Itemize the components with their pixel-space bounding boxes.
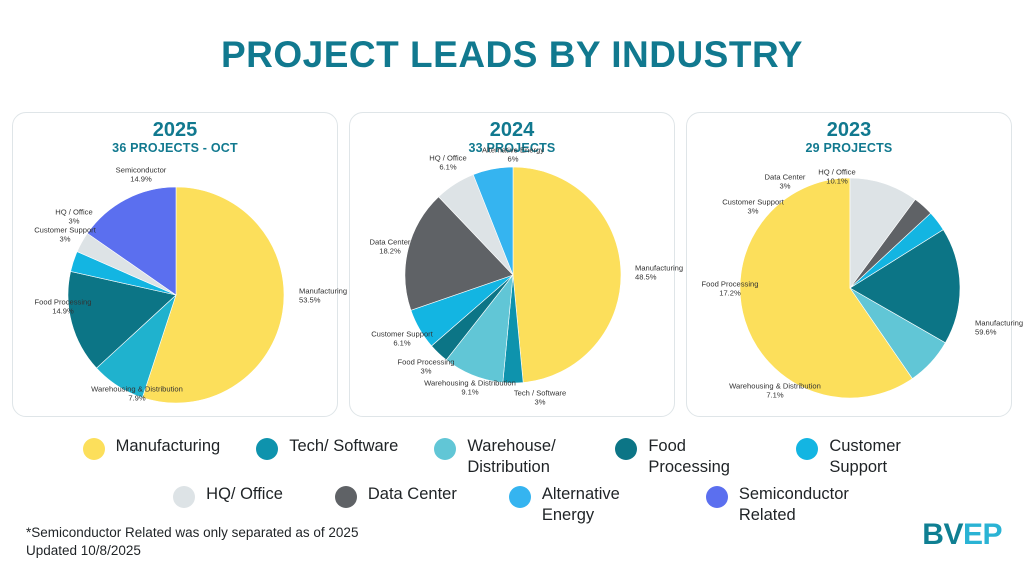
panels-container: 202536 PROJECTS - OCTManufacturing53.5%W… — [12, 112, 1012, 417]
slice-label-name: Customer Support — [722, 198, 784, 207]
slice-label: Semiconductor14.9% — [116, 166, 167, 185]
slice-label-percent: 6.1% — [429, 163, 466, 172]
legend-label: Semiconductor Related — [739, 484, 851, 526]
legend-swatch-icon — [256, 438, 278, 460]
legend-swatch-icon — [796, 438, 818, 460]
chart-panel-2024: 202433 PROJECTSManufacturing48.5%Tech / … — [349, 112, 675, 417]
slice-label: Manufacturing59.6% — [975, 319, 1023, 338]
slice-label: Warehousing & Distribution7.9% — [91, 385, 183, 404]
slice-label-percent: 9.1% — [424, 388, 516, 397]
slice-label-percent: 7.1% — [729, 391, 821, 400]
slice-label-percent: 3% — [398, 367, 455, 376]
legend-swatch-icon — [335, 486, 357, 508]
slice-label-percent: 3% — [765, 182, 806, 191]
legend-item[interactable]: Food Processing — [615, 436, 760, 478]
slice-label-name: Food Processing — [702, 280, 759, 289]
pie-slice — [513, 167, 621, 383]
legend-item[interactable]: Manufacturing — [83, 436, 221, 460]
slice-label-percent: 53.5% — [299, 296, 347, 305]
slice-label-percent: 14.9% — [35, 307, 92, 316]
slice-label-name: HQ / Office — [429, 154, 466, 163]
legend-item[interactable]: HQ/ Office — [173, 484, 283, 508]
slice-label-name: Customer Support — [371, 330, 433, 339]
slice-label-name: Warehousing & Distribution — [91, 385, 183, 394]
footnote-line-2: Updated 10/8/2025 — [26, 542, 358, 560]
bvep-logo: BVEP — [922, 518, 1002, 552]
slice-label: Data Center3% — [765, 173, 806, 192]
slice-label-name: Food Processing — [398, 358, 455, 367]
legend-row: HQ/ OfficeData CenterAlternative EnergyS… — [173, 484, 851, 526]
legend-swatch-icon — [173, 486, 195, 508]
slice-label-name: Alternative Energy — [482, 146, 544, 155]
slice-label: Food Processing14.9% — [35, 298, 92, 317]
slice-label-name: Food Processing — [35, 298, 92, 307]
slice-label: HQ / Office6.1% — [429, 154, 466, 173]
slice-label-percent: 59.6% — [975, 328, 1023, 337]
slice-label: Food Processing3% — [398, 358, 455, 377]
slice-label-percent: 3% — [514, 398, 566, 407]
legend-label: Food Processing — [648, 436, 760, 478]
slice-label-name: HQ / Office — [55, 208, 92, 217]
pie-chart-2023: Manufacturing59.6%Warehousing & Distribu… — [687, 113, 1011, 416]
legend: ManufacturingTech/ SoftwareWarehouse/ Di… — [0, 436, 1024, 526]
footnote-line-1: *Semiconductor Related was only separate… — [26, 524, 358, 542]
logo-bv: BV — [922, 518, 963, 551]
legend-item[interactable]: Tech/ Software — [256, 436, 398, 460]
legend-swatch-icon — [434, 438, 456, 460]
page-title: PROJECT LEADS BY INDUSTRY — [0, 34, 1024, 76]
slice-label: Data Center18.2% — [370, 238, 411, 257]
slice-label-name: Manufacturing — [635, 264, 683, 273]
slice-label: Manufacturing48.5% — [635, 264, 683, 283]
slice-label-name: Manufacturing — [299, 287, 347, 296]
slice-label-percent: 3% — [55, 217, 92, 226]
slice-label-name: Warehousing & Distribution — [424, 379, 516, 388]
slice-label: Warehousing & Distribution7.1% — [729, 382, 821, 401]
slice-label-name: HQ / Office — [818, 168, 855, 177]
slice-label: Food Processing17.2% — [702, 280, 759, 299]
slice-label: Manufacturing53.5% — [299, 287, 347, 306]
legend-label: Manufacturing — [116, 436, 221, 457]
slice-label-percent: 3% — [722, 207, 784, 216]
legend-swatch-icon — [615, 438, 637, 460]
legend-label: Tech/ Software — [289, 436, 398, 457]
slice-label-percent: 10.1% — [818, 177, 855, 186]
legend-swatch-icon — [706, 486, 728, 508]
footnote: *Semiconductor Related was only separate… — [26, 524, 358, 560]
legend-swatch-icon — [509, 486, 531, 508]
legend-item[interactable]: Alternative Energy — [509, 484, 654, 526]
slice-label: Warehousing & Distribution9.1% — [424, 379, 516, 398]
slice-label: Customer Support3% — [34, 226, 96, 245]
legend-item[interactable]: Data Center — [335, 484, 457, 508]
chart-panel-2025: 202536 PROJECTS - OCTManufacturing53.5%W… — [12, 112, 338, 417]
slice-label-name: Data Center — [370, 238, 411, 247]
slice-label: HQ / Office3% — [55, 208, 92, 227]
chart-panel-2023: 202329 PROJECTSManufacturing59.6%Warehou… — [686, 112, 1012, 417]
slice-label-percent: 48.5% — [635, 273, 683, 282]
slice-label: Alternative Energy6% — [482, 146, 544, 165]
slice-label-percent: 3% — [34, 235, 96, 244]
legend-item[interactable]: Semiconductor Related — [706, 484, 851, 526]
logo-ep: EP — [963, 518, 1002, 551]
slice-label-percent: 7.9% — [91, 394, 183, 403]
slice-label-percent: 18.2% — [370, 247, 411, 256]
legend-row: ManufacturingTech/ SoftwareWarehouse/ Di… — [83, 436, 942, 478]
slice-label: Customer Support3% — [722, 198, 784, 217]
slice-label: HQ / Office10.1% — [818, 168, 855, 187]
pie-chart-2024: Manufacturing48.5%Tech / Software3%Wareh… — [350, 113, 674, 416]
slide-root: PROJECT LEADS BY INDUSTRY 202536 PROJECT… — [0, 0, 1024, 576]
slice-label-percent: 14.9% — [116, 175, 167, 184]
legend-label: HQ/ Office — [206, 484, 283, 505]
slice-label-percent: 6.1% — [371, 339, 433, 348]
legend-label: Customer Support — [829, 436, 941, 478]
pie-chart-2025: Manufacturing53.5%Warehousing & Distribu… — [13, 113, 337, 416]
legend-swatch-icon — [83, 438, 105, 460]
slice-label: Tech / Software3% — [514, 389, 566, 408]
legend-item[interactable]: Customer Support — [796, 436, 941, 478]
legend-label: Warehouse/ Distribution — [467, 436, 579, 478]
slice-label-percent: 6% — [482, 155, 544, 164]
slice-label: Customer Support6.1% — [371, 330, 433, 349]
slice-label-name: Customer Support — [34, 226, 96, 235]
legend-label: Data Center — [368, 484, 457, 505]
slice-label-name: Semiconductor — [116, 166, 167, 175]
legend-item[interactable]: Warehouse/ Distribution — [434, 436, 579, 478]
slice-label-name: Tech / Software — [514, 389, 566, 398]
slice-label-percent: 17.2% — [702, 289, 759, 298]
legend-label: Alternative Energy — [542, 484, 654, 526]
slice-label-name: Warehousing & Distribution — [729, 382, 821, 391]
slice-label-name: Data Center — [765, 173, 806, 182]
slice-label-name: Manufacturing — [975, 319, 1023, 328]
